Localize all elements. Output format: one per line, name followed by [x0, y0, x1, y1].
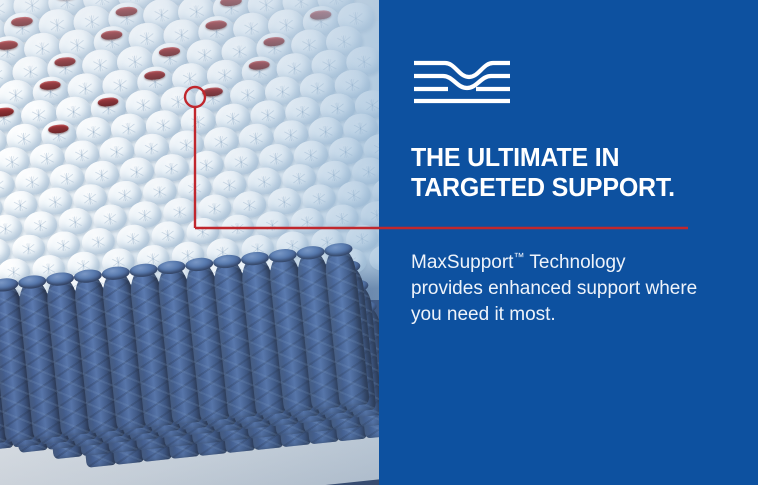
- mattress-coil-photo: [0, 0, 379, 485]
- marketing-feature-card: THE ULTIMATE IN TARGETED SUPPORT. MaxSup…: [0, 0, 758, 485]
- brand-name: MaxSupport: [411, 252, 513, 273]
- maxsupport-wave-logo-icon: [412, 57, 512, 105]
- navy-pocket-coil-layer: [0, 228, 379, 485]
- page-title: THE ULTIMATE IN TARGETED SUPPORT.: [411, 142, 718, 203]
- headline-line-1: THE ULTIMATE IN: [411, 142, 718, 172]
- headline-line-2: TARGETED SUPPORT.: [411, 172, 718, 202]
- copy-panel: THE ULTIMATE IN TARGETED SUPPORT. MaxSup…: [379, 0, 758, 485]
- body-copy: MaxSupport™ Technology provides enhanced…: [411, 250, 701, 329]
- trademark-symbol: ™: [513, 252, 524, 264]
